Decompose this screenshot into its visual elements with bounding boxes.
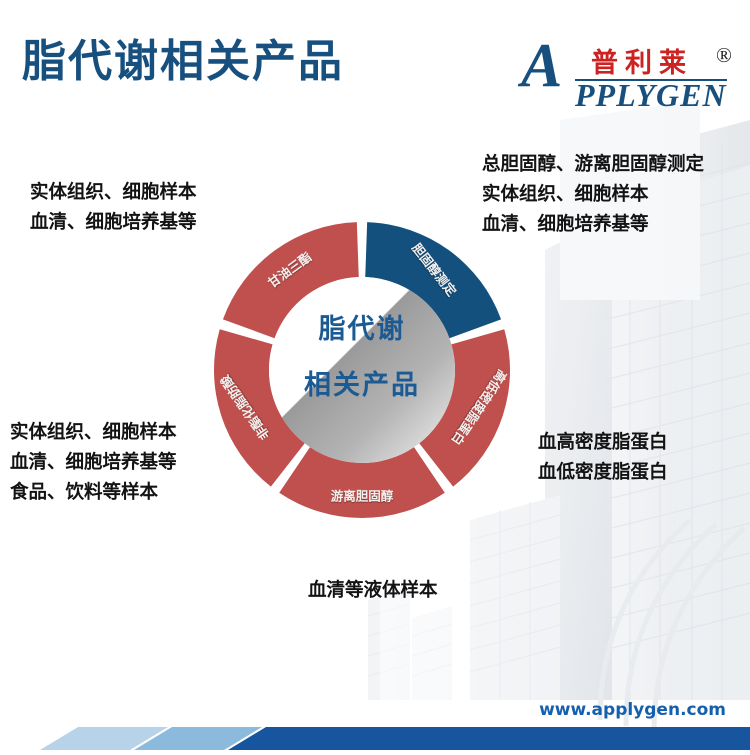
lipid-metabolism-donut-chart: 胆固醇测定 高低密度脂蛋白 游离胆固醇 非酯化脂肪酸 甘油三酯 [182, 190, 542, 550]
annotation-bottom-center: 血清等液体样本 [308, 576, 438, 606]
page-title: 脂代谢相关产品 [22, 40, 344, 84]
donut-center-hub [269, 277, 455, 463]
applygen-logo: A 普利莱 ® PPLYGEN [519, 35, 734, 110]
annotation-line: 血高密度脂蛋白 [538, 428, 668, 458]
annotation-line: 实体组织、细胞样本 [30, 178, 197, 208]
annotation-line: 血清、细胞培养基等 [30, 208, 197, 238]
logo-english-name: PPLYGEN [575, 77, 727, 114]
logo-initial-a: A [521, 37, 562, 96]
annotation-top-right: 总胆固醇、游离胆固醇测定 实体组织、细胞样本 血清、细胞培养基等 [482, 150, 704, 240]
annotation-line: 实体组织、细胞样本 [482, 180, 704, 210]
annotation-line: 血低密度脂蛋白 [538, 458, 668, 488]
annotation-line: 血清、细胞培养基等 [10, 448, 177, 478]
page-footer: www.applygen.com [0, 690, 750, 750]
annotation-top-left: 实体组织、细胞样本 血清、细胞培养基等 [30, 178, 197, 238]
annotation-line: 血清等液体样本 [308, 576, 438, 606]
logo-chinese-name: 普利莱 [591, 41, 693, 80]
annotation-line: 食品、饮料等样本 [10, 478, 177, 508]
registered-trademark-icon: ® [716, 43, 732, 68]
segment-label-2: 游离胆固醇 [331, 485, 394, 504]
annotation-line: 血清、细胞培养基等 [482, 210, 704, 240]
annotation-line: 总胆固醇、游离胆固醇测定 [482, 150, 704, 180]
annotation-line: 实体组织、细胞样本 [10, 418, 177, 448]
page-header: 脂代谢相关产品 A 普利莱 ® PPLYGEN [0, 0, 750, 135]
website-url: www.applygen.com [539, 700, 726, 720]
annotation-bottom-right: 血高密度脂蛋白 血低密度脂蛋白 [538, 428, 668, 488]
annotation-bottom-left: 实体组织、细胞样本 血清、细胞培养基等 食品、饮料等样本 [10, 418, 177, 508]
footer-band [0, 690, 750, 750]
